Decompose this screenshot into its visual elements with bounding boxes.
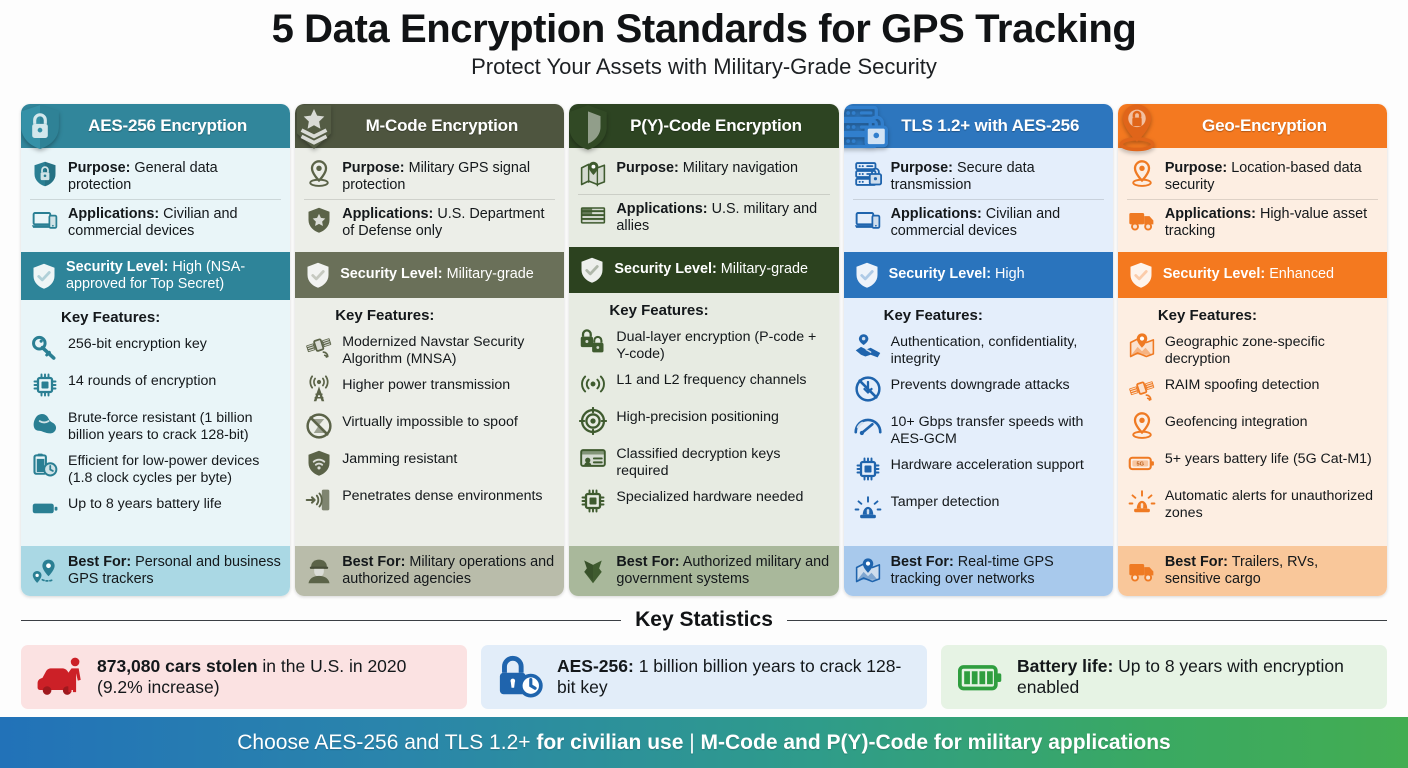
- shield-lock-icon: [21, 104, 66, 156]
- map-pin-area-icon: [1127, 331, 1157, 361]
- shield-check-icon: [304, 261, 332, 289]
- key-statistics-row: 873,080 cars stolen in the U.S. in 2020 …: [21, 645, 1387, 709]
- statistic-text: Battery life: Up to 8 years with encrypt…: [1017, 656, 1371, 697]
- card-title: AES-256 Encryption: [58, 116, 253, 136]
- best-for-text: Best For: Authorized military and govern…: [616, 554, 829, 588]
- best-for-text: Best For: Trailers, RVs, sensitive cargo: [1165, 554, 1378, 588]
- feature-text: Modernized Navstar Security Algorithm (M…: [342, 331, 555, 367]
- handshake-shield-icon: [853, 331, 883, 361]
- card-header-geo[interactable]: Geo-Encryption: [1118, 104, 1387, 148]
- purpose-row: Purpose: General data protection: [30, 156, 281, 200]
- chip-icon: [30, 370, 60, 400]
- page-subtitle: Protect Your Assets with Military-Grade …: [0, 54, 1408, 79]
- svg-text:5G: 5G: [1136, 461, 1144, 467]
- best-for-label: Best For:: [891, 554, 954, 570]
- battery-icon: [30, 493, 60, 523]
- chip-icon: [578, 486, 608, 516]
- feature-text: L1 and L2 frequency channels: [616, 369, 806, 389]
- feature-row: L1 and L2 frequency channels: [578, 369, 829, 399]
- battery-clock-icon: [30, 450, 60, 480]
- server-lock-icon: [853, 159, 883, 189]
- purpose-text: Purpose: Military navigation: [616, 159, 798, 177]
- feature-text: 256-bit encryption key: [68, 333, 207, 353]
- features-section: Key Features: 256-bit encryption key 14 …: [21, 300, 290, 546]
- banner-bold-military: M-Code and P(Y)-Code for military applic…: [701, 731, 1171, 754]
- feature-text: Higher power transmission: [342, 374, 510, 394]
- banner-lead: Choose AES-256 and TLS 1.2+: [237, 731, 536, 754]
- feature-text: 5+ years battery life (5G Cat-M1): [1165, 448, 1372, 468]
- applications-row: Applications: High-value asset tracking: [1127, 202, 1378, 245]
- feature-text: RAIM spoofing detection: [1165, 374, 1320, 394]
- applications-row: Applications: U.S. military and allies: [578, 197, 829, 240]
- features-section: Key Features: Dual-layer encryption (P-c…: [569, 293, 838, 546]
- security-level-label: Security Level:: [889, 266, 991, 282]
- key-features-label: Key Features:: [61, 309, 281, 326]
- shield-solid-icon: [569, 104, 614, 156]
- card-title: TLS 1.2+ with AES-256: [871, 116, 1085, 136]
- car-theft-icon: [37, 654, 83, 700]
- card-header-tls[interactable]: TLS 1.2+ with AES-256: [844, 104, 1113, 148]
- best-for-label: Best For:: [616, 554, 679, 570]
- banner-bold-civilian: for civilian use: [536, 731, 683, 754]
- feature-row: 256-bit encryption key: [30, 333, 281, 363]
- security-level-text: Security Level: High: [889, 266, 1025, 283]
- shield-check-icon: [578, 256, 606, 284]
- signal-waves-icon: [578, 369, 608, 399]
- feature-text: Brute-force resistant (1 billion billion…: [68, 407, 281, 443]
- feature-row: Efficient for low-power devices (1.8 clo…: [30, 450, 281, 486]
- card-meta: Purpose: Location-based data security Ap…: [1118, 148, 1387, 252]
- truck-icon: [1127, 205, 1157, 235]
- applications-row: Applications: U.S. Department of Defense…: [304, 202, 555, 245]
- encryption-card-py-code[interactable]: P(Y)-Code Encryption Purpose: Military n…: [569, 104, 838, 596]
- feature-text: Authentication, confidentiality, integri…: [891, 331, 1104, 367]
- feature-row: Geofencing integration: [1127, 411, 1378, 441]
- feature-row: Jamming resistant: [304, 448, 555, 478]
- satellite-icon: [1127, 374, 1157, 404]
- security-level-text: Security Level: High (NSA-approved for T…: [66, 259, 281, 293]
- feature-row: Virtually impossible to spoof: [304, 411, 555, 441]
- feature-text: 14 rounds of encryption: [68, 370, 216, 390]
- card-header-py-code[interactable]: P(Y)-Code Encryption: [569, 104, 838, 148]
- soldier-icon: [304, 556, 334, 586]
- bottom-recommendation-banner: Choose AES-256 and TLS 1.2+ for civilian…: [0, 717, 1408, 768]
- applications-label: Applications:: [342, 206, 433, 222]
- key-features-label: Key Features:: [609, 302, 829, 319]
- purpose-text: Purpose: General data protection: [68, 159, 281, 194]
- statistic-card: Battery life: Up to 8 years with encrypt…: [941, 645, 1387, 709]
- alarm-light-icon: [853, 491, 883, 521]
- purpose-value: Military navigation: [683, 160, 798, 176]
- map-pin-area-icon: [853, 556, 883, 586]
- chip-icon: [853, 454, 883, 484]
- security-level-band: Security Level: Military-grade: [569, 247, 838, 293]
- security-level-text: Security Level: Enhanced: [1163, 266, 1334, 283]
- map-pin-icon: [578, 159, 608, 189]
- feature-text: Efficient for low-power devices (1.8 clo…: [68, 450, 281, 486]
- truck-icon: [1127, 556, 1157, 586]
- no-downgrade-icon: [853, 374, 883, 404]
- card-meta: Purpose: Military GPS signal protection …: [295, 148, 564, 252]
- feature-row: Prevents downgrade attacks: [853, 374, 1104, 404]
- feature-row: Penetrates dense environments: [304, 485, 555, 515]
- feature-row: Tamper detection: [853, 491, 1104, 521]
- shield-check-icon: [30, 262, 58, 290]
- encryption-standards-grid: AES-256 Encryption Purpose: General data…: [21, 104, 1387, 596]
- purpose-label: Purpose:: [342, 160, 404, 176]
- military-shield-icon: [578, 556, 608, 586]
- applications-label: Applications:: [891, 206, 982, 222]
- security-level-band: Security Level: High: [844, 252, 1113, 298]
- shield-check-icon: [1127, 261, 1155, 289]
- applications-label: Applications:: [616, 201, 707, 217]
- feature-row: Modernized Navstar Security Algorithm (M…: [304, 331, 555, 367]
- banner-text: Choose AES-256 and TLS 1.2+ for civilian…: [237, 732, 1170, 753]
- military-rank-icon: [295, 104, 340, 156]
- security-level-label: Security Level:: [66, 259, 168, 275]
- feature-row: 10+ Gbps transfer speeds with AES-GCM: [853, 411, 1104, 447]
- features-section: Key Features: Geographic zone-specific d…: [1118, 298, 1387, 546]
- security-level-band: Security Level: Enhanced: [1118, 252, 1387, 298]
- purpose-label: Purpose:: [68, 160, 130, 176]
- best-for-text: Best For: Real-time GPS tracking over ne…: [891, 554, 1104, 588]
- feature-text: Geographic zone-specific decryption: [1165, 331, 1378, 367]
- speedometer-icon: [853, 411, 883, 441]
- best-for-text: Best For: Personal and business GPS trac…: [68, 554, 281, 588]
- applications-row: Applications: Civilian and commercial de…: [30, 202, 281, 245]
- antenna-tower-icon: [304, 374, 334, 404]
- signal-wall-icon: [304, 485, 334, 515]
- feature-text: Penetrates dense environments: [342, 485, 542, 505]
- purpose-label: Purpose:: [1165, 160, 1227, 176]
- statistic-bold: 873,080 cars stolen: [97, 656, 258, 676]
- purpose-row: Purpose: Location-based data security: [1127, 156, 1378, 200]
- security-level-text: Security Level: Military-grade: [614, 261, 808, 278]
- location-pin-icon: [1127, 411, 1157, 441]
- shield-wifi-icon: [304, 448, 334, 478]
- applications-text: Applications: U.S. Department of Defense…: [342, 205, 555, 240]
- statistic-text: 873,080 cars stolen in the U.S. in 2020 …: [97, 656, 451, 697]
- applications-row: Applications: Civilian and commercial de…: [853, 202, 1104, 245]
- encryption-card-m-code[interactable]: M-Code Encryption Purpose: Military GPS …: [295, 104, 564, 596]
- rule-right: [787, 620, 1387, 621]
- features-section: Key Features: Modernized Navstar Securit…: [295, 298, 564, 546]
- feature-row: Dual-layer encryption (P-code + Y-code): [578, 326, 829, 362]
- feature-text: High-precision positioning: [616, 406, 778, 426]
- key-features-label: Key Features:: [335, 307, 555, 324]
- feature-text: 10+ Gbps transfer speeds with AES-GCM: [891, 411, 1104, 447]
- card-meta: Purpose: General data protection Applica…: [21, 148, 290, 252]
- statistic-card: AES-256: 1 billion billion years to crac…: [481, 645, 927, 709]
- best-for-band: Best For: Military operations and author…: [295, 546, 564, 596]
- best-for-band: Best For: Personal and business GPS trac…: [21, 546, 290, 596]
- feature-row: Classified decryption keys required: [578, 443, 829, 479]
- security-level-label: Security Level:: [1163, 266, 1265, 282]
- battery-full-icon: [957, 654, 1003, 700]
- best-for-band: Best For: Real-time GPS tracking over ne…: [844, 546, 1113, 596]
- no-spoof-icon: [304, 411, 334, 441]
- purpose-row: Purpose: Military GPS signal protection: [304, 156, 555, 200]
- id-card-icon: [578, 443, 608, 473]
- banner-separator: |: [683, 731, 700, 754]
- applications-text: Applications: Civilian and commercial de…: [891, 205, 1104, 240]
- applications-text: Applications: Civilian and commercial de…: [68, 205, 281, 240]
- best-for-label: Best For:: [342, 554, 405, 570]
- page-title: 5 Data Encryption Standards for GPS Trac…: [0, 8, 1408, 50]
- muscle-arm-icon: [30, 407, 60, 437]
- pin-lock-icon: [1118, 104, 1163, 156]
- feature-row: Geographic zone-specific decryption: [1127, 331, 1378, 367]
- purpose-text: Purpose: Location-based data security: [1165, 159, 1378, 194]
- server-lock-icon: [844, 104, 889, 156]
- shield-lock-icon: [30, 159, 60, 189]
- features-section: Key Features: Authentication, confidenti…: [844, 298, 1113, 546]
- encryption-card-tls[interactable]: TLS 1.2+ with AES-256 Purpose: Secure da…: [844, 104, 1113, 596]
- feature-text: Virtually impossible to spoof: [342, 411, 518, 431]
- feature-text: Up to 8 years battery life: [68, 493, 222, 513]
- card-title: P(Y)-Code Encryption: [600, 116, 808, 136]
- feature-row: Up to 8 years battery life: [30, 493, 281, 523]
- security-level-band: Security Level: High (NSA-approved for T…: [21, 252, 290, 300]
- card-meta: Purpose: Secure data transmission Applic…: [844, 148, 1113, 252]
- feature-row: 14 rounds of encryption: [30, 370, 281, 400]
- security-level-text: Security Level: Military-grade: [340, 266, 534, 283]
- security-level-value: High: [995, 266, 1025, 282]
- feature-text: Jamming resistant: [342, 448, 457, 468]
- laptop-phone-icon: [30, 205, 60, 235]
- applications-label: Applications:: [1165, 206, 1256, 222]
- shield-star-icon: [304, 205, 334, 235]
- key-features-label: Key Features:: [1158, 307, 1378, 324]
- security-level-label: Security Level:: [614, 261, 716, 277]
- satellite-icon: [304, 331, 334, 361]
- purpose-row: Purpose: Secure data transmission: [853, 156, 1104, 200]
- card-header-m-code[interactable]: M-Code Encryption: [295, 104, 564, 148]
- map-pins-icon: [30, 556, 60, 586]
- security-level-band: Security Level: Military-grade: [295, 252, 564, 298]
- feature-row: RAIM spoofing detection: [1127, 374, 1378, 404]
- security-level-value: Military-grade: [447, 266, 534, 282]
- alarm-light-icon: [1127, 485, 1157, 515]
- key-features-label: Key Features:: [884, 307, 1104, 324]
- infographic-page: 5 Data Encryption Standards for GPS Trac…: [0, 0, 1408, 768]
- header-block: 5 Data Encryption Standards for GPS Trac…: [0, 0, 1408, 79]
- feature-row: Authentication, confidentiality, integri…: [853, 331, 1104, 367]
- applications-text: Applications: High-value asset tracking: [1165, 205, 1378, 240]
- purpose-label: Purpose:: [891, 160, 953, 176]
- location-pin-icon: [1127, 159, 1157, 189]
- security-level-value: Enhanced: [1269, 266, 1334, 282]
- feature-row: Hardware acceleration support: [853, 454, 1104, 484]
- location-pin-icon: [304, 159, 334, 189]
- best-for-band: Best For: Authorized military and govern…: [569, 546, 838, 596]
- security-level-value: Military-grade: [721, 261, 808, 277]
- feature-text: Tamper detection: [891, 491, 1000, 511]
- best-for-band: Best For: Trailers, RVs, sensitive cargo: [1118, 546, 1387, 596]
- lock-clock-icon: [497, 654, 543, 700]
- feature-row: Brute-force resistant (1 billion billion…: [30, 407, 281, 443]
- feature-text: Classified decryption keys required: [616, 443, 829, 479]
- shield-check-icon: [853, 261, 881, 289]
- rule-left: [21, 620, 621, 621]
- purpose-text: Purpose: Secure data transmission: [891, 159, 1104, 194]
- double-lock-icon: [578, 326, 608, 356]
- feature-row: High-precision positioning: [578, 406, 829, 436]
- feature-row: 5G 5+ years battery life (5G Cat-M1): [1127, 448, 1378, 478]
- applications-label: Applications:: [68, 206, 159, 222]
- key-statistics-heading: Key Statistics: [21, 608, 1387, 632]
- feature-row: Specialized hardware needed: [578, 486, 829, 516]
- laptop-phone-icon: [853, 205, 883, 235]
- card-header-aes-256[interactable]: AES-256 Encryption: [21, 104, 290, 148]
- best-for-label: Best For:: [68, 554, 131, 570]
- statistic-bold: AES-256:: [557, 656, 634, 676]
- statistic-bold: Battery life:: [1017, 656, 1113, 676]
- card-title: Geo-Encryption: [1172, 116, 1333, 136]
- usa-flag-icon: [578, 200, 608, 230]
- key-icon: [30, 333, 60, 363]
- feature-text: Automatic alerts for unauthorized zones: [1165, 485, 1378, 521]
- feature-row: Higher power transmission: [304, 374, 555, 404]
- statistic-text: AES-256: 1 billion billion years to crac…: [557, 656, 911, 697]
- encryption-card-geo[interactable]: Geo-Encryption Purpose: Location-based d…: [1118, 104, 1387, 596]
- statistic-card: 873,080 cars stolen in the U.S. in 2020 …: [21, 645, 467, 709]
- feature-text: Geofencing integration: [1165, 411, 1308, 431]
- feature-text: Dual-layer encryption (P-code + Y-code): [616, 326, 829, 362]
- card-title: M-Code Encryption: [336, 116, 524, 136]
- battery-5g-icon: 5G: [1127, 448, 1157, 478]
- card-meta: Purpose: Military navigation Application…: [569, 148, 838, 247]
- target-icon: [578, 406, 608, 436]
- feature-row: Automatic alerts for unauthorized zones: [1127, 485, 1378, 521]
- encryption-card-aes-256[interactable]: AES-256 Encryption Purpose: General data…: [21, 104, 290, 596]
- feature-text: Prevents downgrade attacks: [891, 374, 1070, 394]
- purpose-text: Purpose: Military GPS signal protection: [342, 159, 555, 194]
- feature-text: Specialized hardware needed: [616, 486, 803, 506]
- purpose-row: Purpose: Military navigation: [578, 156, 829, 195]
- applications-text: Applications: U.S. military and allies: [616, 200, 829, 235]
- best-for-label: Best For:: [1165, 554, 1228, 570]
- security-level-label: Security Level:: [340, 266, 442, 282]
- statistics-label: Key Statistics: [635, 608, 773, 632]
- best-for-text: Best For: Military operations and author…: [342, 554, 555, 588]
- feature-text: Hardware acceleration support: [891, 454, 1084, 474]
- purpose-label: Purpose:: [616, 160, 678, 176]
